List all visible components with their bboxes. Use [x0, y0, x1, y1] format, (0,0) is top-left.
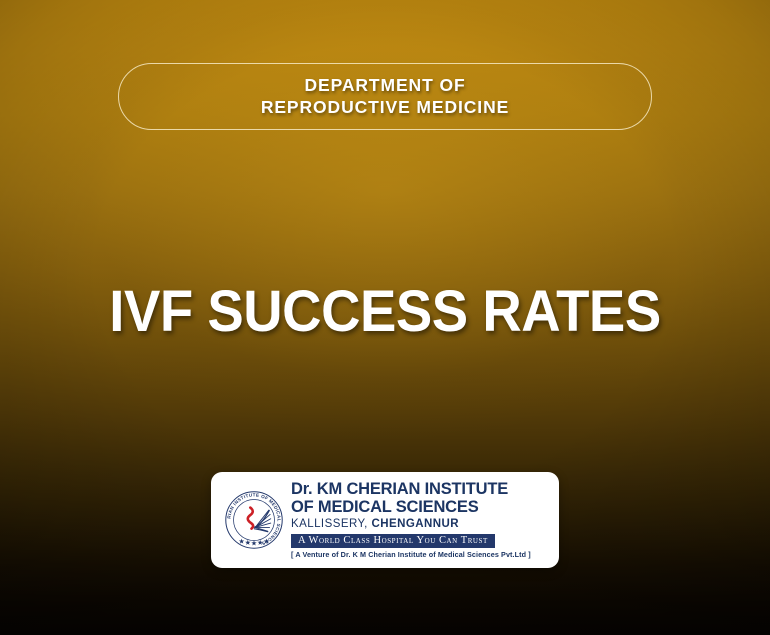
department-header-text: DEPARTMENT OF REPRODUCTIVE MEDICINE — [261, 75, 509, 118]
institute-name-line2: OF MEDICAL SCIENCES — [291, 499, 549, 517]
institute-location-city: CHENGANNUR — [371, 518, 459, 530]
ivf-success-rates-poster: DEPARTMENT OF REPRODUCTIVE MEDICINE IVF … — [0, 0, 770, 635]
cherian-institute-seal-icon: DR. KM CHERIAN INSTITUTE OF MEDICAL SCIE… — [223, 489, 285, 551]
venture-note: [ A Venture of Dr. K M Cherian Institute… — [291, 550, 549, 559]
institute-location: KALLISSERY, CHENGANNUR — [291, 518, 549, 530]
institute-name-line1: Dr. KM CHERIAN INSTITUTE — [291, 481, 549, 499]
department-header-pill: DEPARTMENT OF REPRODUCTIVE MEDICINE — [118, 63, 652, 130]
institute-location-town: KALLISSERY, — [291, 518, 368, 530]
hospital-logo-text: Dr. KM CHERIAN INSTITUTE OF MEDICAL SCIE… — [285, 481, 549, 559]
page-title: IVF SUCCESS RATES — [23, 283, 747, 341]
department-header-line2: REPRODUCTIVE MEDICINE — [261, 97, 509, 118]
hospital-logo-card: DR. KM CHERIAN INSTITUTE OF MEDICAL SCIE… — [211, 472, 559, 568]
hospital-tagline: A World Class Hospital You Can Trust — [291, 534, 495, 548]
department-header-line1: DEPARTMENT OF — [261, 75, 509, 96]
